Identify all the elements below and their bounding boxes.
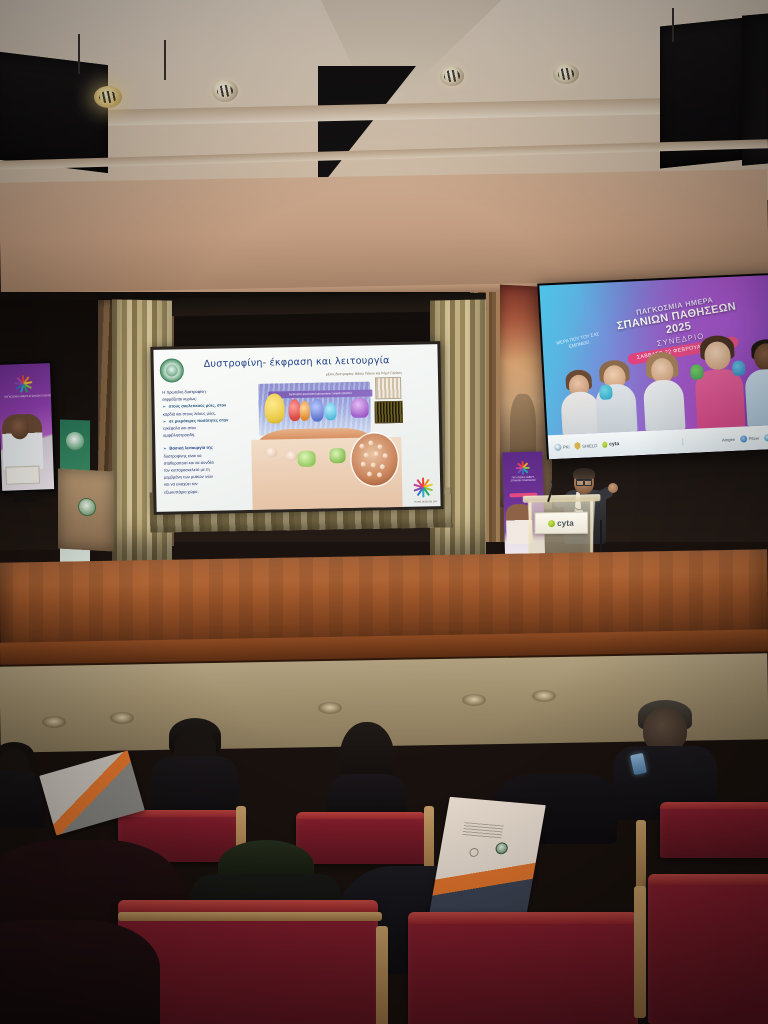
adult-figure — [743, 338, 768, 426]
led-children-photo — [542, 319, 768, 436]
nucleus — [265, 447, 277, 457]
sponsor-name: SHIELD — [582, 443, 597, 449]
cyta-wordmark: cyta — [557, 518, 574, 527]
left-side-monitor: ΠΑΓΚΟΣΜΙΑ ΗΜΕΡΑ ΣΠΑΝΙΩΝ ΠΑΘΗΣΕΩΝ 2025 — [0, 361, 56, 493]
left-monitor-person — [2, 413, 44, 470]
sponsor-name: cyta — [609, 441, 619, 447]
attendee-foreground-coat — [0, 920, 160, 1024]
auditorium-photo: Δυστροφίνη- έκφραση και λειτουργία μέλος… — [0, 0, 768, 1024]
programme-text-lines — [462, 823, 503, 840]
rare-disease-flower-icon: RARE DISEASE DAY — [412, 476, 434, 498]
child-figure — [639, 351, 687, 431]
child-figure — [592, 359, 640, 433]
podium-seal-icon — [78, 498, 96, 517]
protein-sarcoglycan-b — [299, 401, 309, 421]
protein-dystroglycan — [264, 393, 285, 423]
left-monitor-card — [5, 466, 40, 485]
left-monitor-screen: ΠΑΓΚΟΣΜΙΑ ΗΜΕΡΑ ΣΠΑΝΙΩΝ ΠΑΘΗΣΕΩΝ 2025 — [0, 363, 54, 491]
rare-disease-flower-icon — [512, 458, 532, 475]
nucleus — [285, 451, 297, 461]
bullet-line: εξωκυττάριο χώρο. — [164, 488, 246, 496]
theatre-seat[interactable] — [408, 912, 638, 1024]
ceiling-spotlight — [440, 66, 464, 86]
seat-armrest — [634, 886, 646, 1018]
speaker-hand-right — [608, 483, 618, 493]
ceiling-speaker-left — [0, 51, 108, 173]
projection-screen: Δυστροφίνη- έκφραση και λειτουργία μέλος… — [150, 341, 443, 515]
monitor-stand — [14, 492, 36, 502]
sponsor-logo-pki: PKI — [554, 443, 570, 451]
protein-syntrophin — [297, 451, 315, 467]
slide-bullet-list: Η πρωτεΐνη δυστροφίνη εκφράζεται κυρίως:… — [162, 388, 246, 496]
left-monitor-heading: ΠΑΓΚΟΣΜΙΑ ΗΜΕΡΑ ΣΠΑΝΙΩΝ ΠΑΘΗΣΕΩΝ 2025 — [4, 394, 54, 399]
child-figure-painted-hands — [688, 334, 749, 428]
attendee-left — [0, 742, 40, 828]
speaker-rod — [164, 40, 166, 80]
rare-disease-flower-icon — [10, 372, 37, 393]
protein-dystrobrevin — [329, 448, 345, 463]
lectern-brand-plate: cyta — [534, 512, 588, 535]
speaker-rod — [78, 34, 80, 74]
sponsor-logo-pfizer: Pfizer — [740, 434, 760, 442]
cyta-logo: cyta — [548, 518, 574, 527]
sponsor-logo-msd: MSD — [764, 433, 768, 441]
sponsor-name: PKI — [563, 444, 570, 449]
bullet-line: αμφιβληστροειδή. — [163, 431, 245, 439]
sponsor-logo-cyta: cyta — [602, 441, 619, 448]
bullet-group-2: Βασική λειτουργία της δυστροφίνης είναι … — [163, 444, 246, 495]
sponsor-name: Pfizer — [748, 435, 759, 440]
led-video-wall: ΜΕΡΑ ΠΟΥ ΤΟΥ ΣΑΣ ΕΜΠΝΕΕΙ ΠΑΓΚΟΣΜΙΑ ΗΜΕΡΑ… — [537, 273, 768, 460]
cyta-mark-icon — [602, 442, 608, 448]
left-side-podium — [58, 469, 114, 552]
ceiling-spotlight — [212, 80, 238, 102]
seat-armrest — [376, 926, 388, 1024]
ceiling-spotlight — [553, 64, 579, 84]
sponsor-mark-icon — [554, 443, 561, 450]
protein-laminin — [350, 398, 368, 418]
attendee-short-hair — [158, 718, 232, 822]
led-wall-content: ΜΕΡΑ ΠΟΥ ΤΟΥ ΣΑΣ ΕΜΠΝΕΕΙ ΠΑΓΚΟΣΜΙΑ ΗΜΕΡΑ… — [539, 275, 768, 460]
sponsor-group-organisers: PKI SHIELD cyta — [548, 437, 683, 451]
audience-area — [0, 690, 768, 1024]
protein-sarcoglycan-c — [310, 398, 323, 421]
sponsor-logo-amgen: Amgen — [722, 436, 736, 442]
ceiling — [0, 0, 768, 200]
micrograph-inset-bottom — [374, 401, 402, 424]
presentation-slide: Δυστροφίνη- έκφραση και λειτουργία μέλος… — [153, 344, 440, 512]
society-logo-icon — [160, 358, 184, 382]
dapc-diagram: Dystrophin-associated glycoprotein compl… — [250, 375, 403, 510]
seat-trim — [118, 912, 382, 921]
micrograph-inset-top — [375, 377, 401, 400]
sponsor-mark-icon — [764, 434, 768, 441]
programme-seal-icon — [494, 842, 508, 855]
sponsor-group-supporters: Amgen Pfizer MSD — [682, 433, 768, 445]
glasses-icon — [576, 479, 592, 483]
attendee-long-hair — [330, 722, 404, 824]
shield-icon — [574, 442, 580, 450]
theatre-seat[interactable] — [648, 874, 768, 1024]
acoustic-wedge — [318, 66, 416, 190]
theatre-seat[interactable] — [660, 802, 768, 858]
banner-logo-icon — [66, 432, 84, 451]
speaker-hair — [573, 468, 595, 479]
sponsor-mark-icon — [740, 435, 747, 442]
flower-caption: RARE DISEASE DAY — [414, 500, 437, 503]
sponsor-logo-shield: SHIELD — [574, 441, 597, 450]
protein-sarcospan — [324, 402, 336, 420]
cyta-mark-icon — [548, 520, 555, 527]
ceiling-spotlight — [94, 86, 122, 108]
speaker-rod — [672, 8, 674, 42]
rollup-heading: ΠΑΓΚΟΣΜΙΑ ΗΜΕΡΑ ΣΠΑΝΙΩΝ ΠΑΘΗΣΕΩΝ — [507, 476, 539, 483]
sponsor-name: Amgen — [722, 436, 736, 442]
slide-title: Δυστροφίνη- έκφραση και λειτουργία — [204, 354, 422, 369]
programme-ring-icon — [469, 848, 480, 858]
